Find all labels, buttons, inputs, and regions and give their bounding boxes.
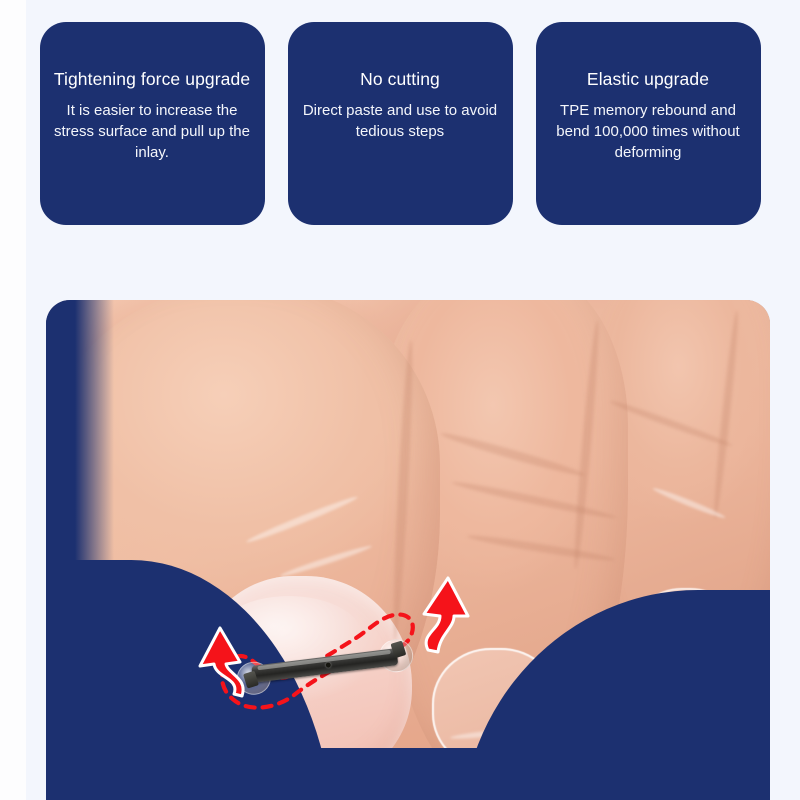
feature-card-title: Elastic upgrade: [587, 68, 709, 90]
feature-card-row: Tightening force upgrade It is easier to…: [0, 0, 800, 250]
photo-illustration: [46, 300, 770, 800]
photo-background-bottom: [46, 748, 770, 800]
feature-card-description: It is easier to increase the stress surf…: [52, 100, 253, 163]
product-photo: [46, 300, 770, 800]
feature-card-no-cutting[interactable]: No cutting Direct paste and use to avoid…: [288, 22, 513, 225]
feature-card-tightening-force[interactable]: Tightening force upgrade It is easier to…: [40, 22, 265, 225]
feature-card-elastic-upgrade[interactable]: Elastic upgrade TPE memory rebound and b…: [536, 22, 761, 225]
feature-card-title: No cutting: [360, 68, 440, 90]
feature-card-description: TPE memory rebound and bend 100,000 time…: [548, 100, 749, 163]
feature-card-description: Direct paste and use to avoid tedious st…: [300, 100, 501, 142]
product-feature-page: Tightening force upgrade It is easier to…: [0, 0, 800, 800]
lift-arrow-left-icon: [194, 620, 254, 702]
lift-arrow-right-icon: [410, 572, 476, 658]
feature-card-title: Tightening force upgrade: [54, 68, 250, 90]
